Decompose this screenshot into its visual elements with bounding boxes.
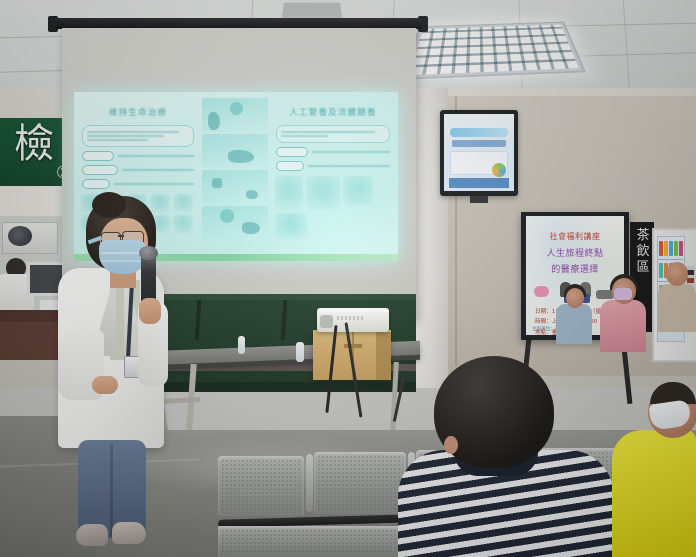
drink-can <box>664 241 668 256</box>
slide-pill-text <box>118 155 194 157</box>
seat-armrest <box>306 454 313 512</box>
face-mask <box>614 288 632 300</box>
slide-pill-row <box>276 161 390 171</box>
seat-perforation <box>221 459 301 513</box>
ceiling-light-fixture <box>404 22 586 80</box>
mask-pleat <box>101 252 144 254</box>
shoe <box>112 522 146 544</box>
audience-member-body <box>658 284 696 332</box>
slide-middle-panel <box>202 96 268 254</box>
slide-pill <box>82 165 118 175</box>
slide-pill-text <box>114 183 194 185</box>
seat[interactable] <box>314 452 406 514</box>
audience-member-yellow-shirt <box>612 430 696 557</box>
slide-text-line <box>281 131 375 133</box>
slide-photo-panel <box>202 98 268 132</box>
slide-illustration-icon <box>343 176 373 206</box>
audience-member-head <box>566 288 584 308</box>
wall-mounted-tv <box>440 110 518 196</box>
shoe <box>76 524 108 546</box>
slide-left-callout <box>82 125 194 147</box>
drink-can <box>674 241 678 256</box>
slide-pill <box>82 151 114 161</box>
slide-text-line <box>87 131 179 133</box>
drink-can <box>659 263 663 278</box>
drink-can <box>659 241 663 256</box>
table-cross-bar <box>160 397 200 404</box>
audience-member-body <box>600 300 646 352</box>
slide-photo-panel <box>202 206 268 240</box>
audience-member-body <box>556 304 592 344</box>
vertical-sign-text: 茶飲區 <box>633 228 653 276</box>
slide-illustration-icon <box>306 176 340 210</box>
slide-right-title: 人工繁養及流體餵養 <box>272 106 394 118</box>
presenter-hair-bun <box>92 192 126 218</box>
cardboard-box-side <box>376 332 391 380</box>
slide-figure <box>208 112 220 130</box>
vending-button[interactable] <box>687 270 694 275</box>
poster-title-line-1: 社會福利講座 <box>526 231 624 242</box>
slide-pill <box>82 179 110 189</box>
eyeglasses-bridge <box>118 235 124 237</box>
vending-row <box>659 241 683 256</box>
slide-pill-text <box>312 151 390 153</box>
counter-poster-image <box>8 226 32 246</box>
slide-text-line <box>87 139 148 141</box>
box-label <box>344 344 362 348</box>
water-bottle <box>296 342 304 362</box>
slide-figure <box>220 209 234 223</box>
slide-figure <box>228 150 254 163</box>
projector-vent <box>337 316 365 320</box>
slide-illustration-icon <box>173 215 193 233</box>
department-sign-text: 檢 <box>14 124 54 164</box>
tv-headline-bar <box>450 128 508 137</box>
presenter-right-hand <box>139 298 161 324</box>
slide-illustration-icon <box>173 194 193 212</box>
water-bottle <box>238 336 245 354</box>
slide-right-callout <box>276 125 390 143</box>
seat-perforation <box>317 455 403 511</box>
projector-top <box>317 308 389 312</box>
slide-pill-text <box>122 169 194 171</box>
microphone-head <box>139 246 158 260</box>
slide-figure <box>212 178 222 188</box>
slide-photo-panel <box>202 170 268 204</box>
light-louver-grid <box>411 24 579 75</box>
slide-figure <box>246 190 258 199</box>
ceiling-vent <box>282 3 342 18</box>
slide-left-title: 維持生命治療 <box>78 106 198 118</box>
drink-can <box>669 241 673 256</box>
slide-illustration-icon <box>275 213 307 239</box>
tv-wall-mount <box>470 196 488 203</box>
slide-illustration-icon <box>275 176 303 210</box>
slide-photo-panel <box>202 134 268 168</box>
presenter-left-hand <box>92 376 118 394</box>
projector-lens <box>320 315 333 328</box>
photo-scene: 檢 ①號櫃 維持生命治療 <box>0 0 696 557</box>
piggy-bank-icon <box>534 286 549 297</box>
poster-title-line-2: 人生旅程終點 <box>526 246 624 259</box>
tv-footer-banner <box>449 178 509 188</box>
tv-logo-icon <box>492 163 506 177</box>
audience-member-head <box>666 262 688 286</box>
slide-pill-text <box>308 165 390 167</box>
coin-return-button[interactable] <box>687 278 694 283</box>
slide-text-line <box>281 135 328 137</box>
slide-pill-row <box>82 151 194 161</box>
drink-can <box>679 241 683 256</box>
slide-right-panel: 人工繁養及流體餵養 <box>272 96 394 254</box>
slide-pill <box>276 147 308 157</box>
slide-illustration-icon <box>150 194 170 212</box>
seat[interactable] <box>218 456 304 516</box>
mask-pleat <box>101 260 144 262</box>
tv-brand-text <box>452 140 506 147</box>
tv-screen <box>444 114 514 191</box>
slide-figure <box>230 102 243 115</box>
slide-pill-row <box>82 179 194 189</box>
slide-pill-row <box>276 147 390 157</box>
slide-figure <box>242 222 260 234</box>
jeans-seam <box>110 444 113 536</box>
poster-title-line-3: 的醫療選擇 <box>526 262 624 275</box>
slide-pill-row <box>82 165 194 175</box>
slide-text-line <box>87 135 164 137</box>
ceiling-tile-line <box>623 0 630 92</box>
slide-icon-grid <box>275 176 391 239</box>
slide-pill <box>276 161 304 171</box>
vending-shelf <box>658 259 684 260</box>
ear <box>444 436 458 454</box>
